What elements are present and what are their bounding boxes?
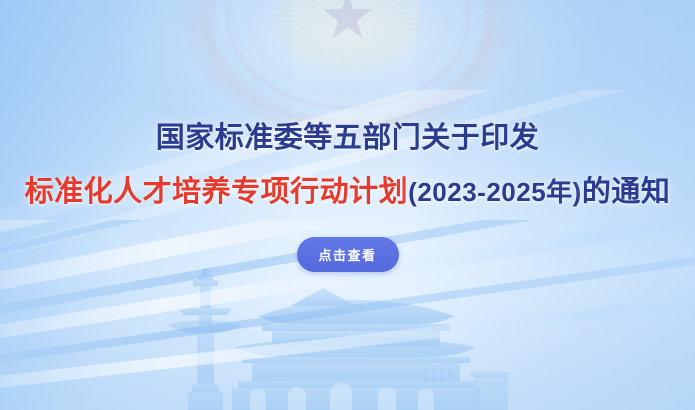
view-details-button[interactable]: 点击查看 (297, 237, 399, 272)
title-line-one: 国家标准委等五部门关于印发 (156, 119, 540, 157)
notice-banner: 国家标准委等五部门关于印发 标准化人才培养专项行动计划(2023-2025年)的… (0, 0, 695, 410)
title-line-two: 标准化人才培养专项行动计划(2023-2025年)的通知 (25, 173, 671, 211)
title-plan-name: 标准化人才培养专项行动计划 (25, 176, 409, 208)
title-suffix: 的通知 (582, 176, 671, 208)
banner-content: 国家标准委等五部门关于印发 标准化人才培养专项行动计划(2023-2025年)的… (0, 0, 695, 410)
title-year-range: (2023-2025年) (408, 177, 582, 207)
